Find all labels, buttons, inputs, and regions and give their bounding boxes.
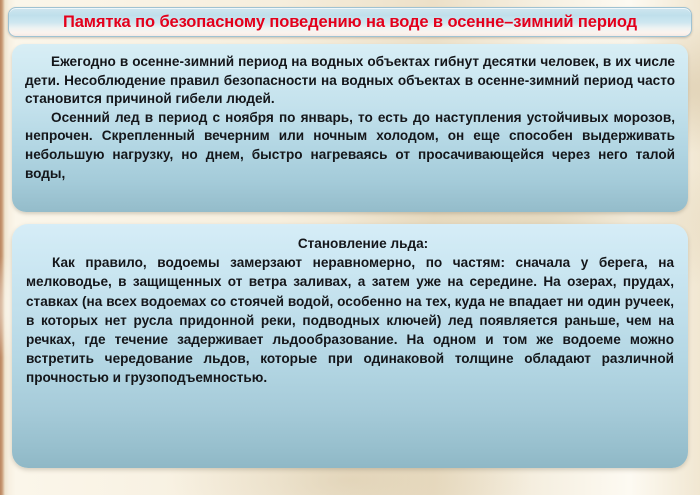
intro-text-panel: Ежегодно в осенне-зимний период на водны… [12, 44, 688, 212]
intro-paragraph-1: Ежегодно в осенне-зимний период на водны… [25, 53, 675, 109]
intro-paragraph-2: Осенний лед в период с ноября по январь,… [25, 109, 675, 183]
page-title: Памятка по безопасному поведению на воде… [63, 14, 637, 31]
section-heading: Становление льда: [26, 234, 674, 253]
poster-title-bar: Памятка по безопасному поведению на воде… [8, 7, 692, 37]
ice-formation-panel: Становление льда: Как правило, водоемы з… [12, 224, 688, 468]
ice-formation-paragraph-1: Как правило, водоемы замерзают неравноме… [26, 253, 674, 387]
poster-root: Памятка по безопасному поведению на воде… [0, 0, 700, 495]
